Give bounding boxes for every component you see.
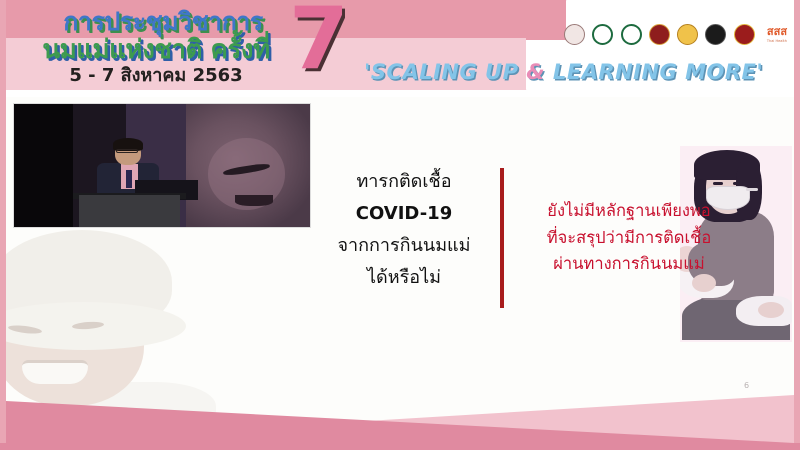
conference-tagline: 'SCALING UP & LEARNING MORE' [364, 60, 794, 84]
question-line-4: ได้หรือไม่ [324, 262, 484, 294]
nursing-council-logo [703, 24, 728, 52]
baby-closeup-screen [186, 104, 310, 227]
answer-line-3: ผ่านทางการกินนมแม่ [511, 251, 747, 278]
thai-health-logo-subtext: Thai Health [760, 39, 794, 44]
mother-foot [758, 302, 784, 318]
stage-panel-left [14, 104, 73, 227]
answer-line-1: ยังไม่มีหลักฐานเพียงพอ [511, 198, 747, 225]
baby-mouth-shape [235, 195, 272, 206]
tagline-part-after: LEARNING MORE' [545, 60, 763, 84]
question-line-1: ทารกติดเชื้อ [324, 166, 484, 198]
frame-bottom-edge [0, 443, 800, 450]
header-white-strip [6, 90, 794, 97]
face-mask-strap [746, 188, 758, 191]
thai-health-logo: สสส Thai Health [760, 24, 794, 52]
slide-outer-frame: การประชุมวิชาการ นมแม่แห่งชาติ ครั้งที่ … [0, 0, 800, 450]
answer-text-block: ยังไม่มีหลักฐานเพียงพอ ที่จะสรุปว่ามีการ… [511, 198, 747, 278]
tagline-part-before: 'SCALING UP [364, 60, 526, 84]
conference-header-banner: การประชุมวิชาการ นมแม่แห่งชาติ ครั้งที่ … [6, 0, 794, 97]
royal-seal-logo [562, 24, 587, 52]
footer-pink-bands [6, 377, 794, 443]
footer-band-dark [6, 401, 794, 443]
royal-college-logo [647, 24, 672, 52]
ministry-of-public-health-logo [590, 24, 615, 52]
podium [79, 195, 180, 227]
pediatric-society-logo [732, 24, 757, 52]
slide-canvas: การประชุมวิชาการ นมแม่แห่งชาติ ครั้งที่ … [6, 0, 794, 443]
question-line-2: COVID-19 [324, 198, 484, 230]
speaker-video-inset[interactable] [13, 103, 311, 228]
mother-eye-left [713, 182, 723, 185]
speaker-glasses-icon [116, 149, 138, 153]
sponsor-logo-row: สสส Thai Health [562, 18, 794, 58]
speaker-tie [126, 170, 132, 187]
thai-health-logo-text: สสส [760, 26, 794, 37]
tagline-ampersand: & [526, 60, 545, 84]
conference-edition-number: 7 [289, 0, 349, 82]
answer-line-2: ที่จะสรุปว่ามีการติดเชื้อ [511, 225, 747, 252]
question-line-3: จากการกินนมแม่ [324, 230, 484, 262]
thai-breastfeeding-centre-logo [675, 24, 700, 52]
mother-eye-right [733, 182, 743, 185]
department-of-health-logo [619, 24, 644, 52]
vertical-divider [500, 168, 504, 308]
conference-date: 5 - 7 สิงหาคม 2563 [26, 60, 286, 89]
question-text-block: ทารกติดเชื้อ COVID-19 จากการกินนมแม่ ได้… [324, 166, 484, 294]
